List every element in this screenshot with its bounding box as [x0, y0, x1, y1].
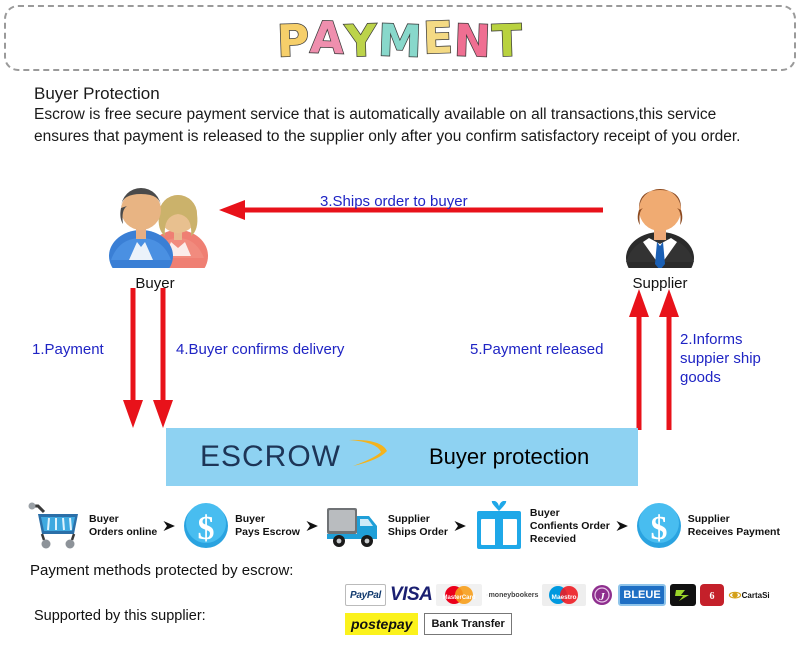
payment-logo-row-primary: PayPal VISA MasterCard moneybookers Maes…	[345, 584, 770, 606]
cartasi-label: CartaSi	[742, 591, 770, 600]
arrow-buyer-confirms-down	[152, 288, 174, 430]
process-step-line3: Recevied	[530, 533, 610, 546]
process-step-text: Supplier Receives Payment	[688, 513, 780, 539]
discover-logo-icon	[670, 584, 696, 606]
moneybookers-label: moneybookers	[489, 591, 539, 600]
maestro-logo-icon: Maestro	[542, 584, 586, 606]
paypal-logo-icon: PayPal	[345, 584, 386, 606]
process-step-line2: Orders online	[89, 526, 157, 539]
payment-title-letter-4: M	[377, 19, 423, 65]
payment-header-banner: PAYMENT	[4, 5, 796, 71]
jcb-logo-icon: J	[590, 584, 614, 606]
svg-text:6: 6	[709, 591, 714, 602]
process-step-text: Buyer Pays Escrow	[235, 513, 300, 539]
delivery-truck-icon	[325, 502, 383, 550]
process-step: Buyer Confients Order Recevied	[473, 501, 610, 551]
process-step: Buyer Orders online	[28, 502, 157, 550]
process-step: $ Supplier Receives Payment	[635, 502, 780, 550]
page-title: PAYMENT	[277, 12, 523, 64]
svg-text:MasterCard: MasterCard	[443, 595, 476, 601]
visa-logo-icon: VISA	[390, 584, 432, 606]
supplier-avatar-icon	[605, 168, 715, 268]
process-step-line1: Buyer	[235, 513, 300, 526]
actor-buyer: Buyer	[95, 168, 215, 292]
chevron-right-icon	[306, 515, 319, 537]
payment-methods-escrow-label: Payment methods protected by escrow:	[30, 562, 293, 579]
payment-methods-supplier-label: Supported by this supplier:	[34, 608, 206, 624]
flow-label-ships-order: 3.Ships order to buyer	[320, 192, 468, 211]
escrow-wordmark: ESCROW	[200, 440, 341, 474]
flow-label-payment: 1.Payment	[32, 340, 104, 359]
dollar-circle-icon: $	[182, 502, 230, 550]
payment-title-letter-3: Y	[345, 19, 379, 64]
bleue-logo-icon: BLEUE	[618, 584, 665, 606]
mastercard-logo-icon: MasterCard	[436, 584, 482, 606]
process-step-line1: Supplier	[388, 513, 448, 526]
process-step: Supplier Ships Order	[325, 502, 448, 550]
process-step-line2: Ships Order	[388, 526, 448, 539]
svg-text:J: J	[599, 591, 606, 603]
cartasi-logo-icon: CartaSi	[728, 584, 770, 606]
bank-transfer-logo-icon: Bank Transfer	[424, 613, 511, 635]
chevron-right-icon	[454, 515, 467, 537]
dollar-circle-icon: $	[635, 502, 683, 550]
payment-logo-row-secondary: postepay Bank Transfer	[345, 613, 512, 635]
escrow-tagline: Buyer protection	[429, 444, 589, 470]
chevron-right-icon	[616, 515, 629, 537]
arrow-payment-released-up	[628, 288, 650, 430]
flow-label-payment-released: 5.Payment released	[470, 340, 603, 359]
actor-supplier: Supplier	[605, 168, 715, 292]
svg-text:$: $	[198, 510, 215, 547]
process-step-line1: Buyer	[89, 513, 157, 526]
buyer-protection-heading: Buyer Protection	[34, 84, 160, 104]
payment-title-letter-5: E	[422, 16, 455, 61]
process-step-line2: Receives Payment	[688, 526, 780, 539]
flow-label-informs-supplier: 2.Informs suppier ship goods	[680, 330, 775, 387]
process-steps-row: Buyer Orders online $ Buyer Pays Escrow	[28, 498, 780, 554]
payment-title-letter-2: A	[310, 16, 347, 61]
escrow-banner: ESCROW Buyer protection	[166, 428, 638, 486]
arrow-payment-down	[122, 288, 144, 430]
process-step-line1: Supplier	[688, 513, 780, 526]
payment-title-letter-7: T	[491, 19, 524, 64]
postepay-logo-icon: postepay	[345, 613, 418, 635]
shopping-cart-icon	[28, 502, 84, 550]
process-step-text: Supplier Ships Order	[388, 513, 448, 539]
process-step-text: Buyer Orders online	[89, 513, 157, 539]
escrow-swoosh-icon	[347, 436, 389, 470]
chevron-right-icon	[163, 515, 176, 537]
gift-box-icon	[473, 501, 525, 551]
escrow-description: Escrow is free secure payment service th…	[34, 104, 774, 148]
process-step-line1: Buyer	[530, 507, 610, 520]
process-step-line2: Pays Escrow	[235, 526, 300, 539]
svg-text:$: $	[650, 510, 667, 547]
svg-text:Maestro: Maestro	[552, 594, 577, 601]
diners-logo-icon: 6	[700, 584, 724, 606]
payment-title-letter-6: N	[453, 19, 492, 64]
flow-label-buyer-confirms: 4.Buyer confirms delivery	[176, 340, 344, 359]
payment-title-letter-1: P	[276, 19, 311, 64]
process-step: $ Buyer Pays Escrow	[182, 502, 300, 550]
process-step-text: Buyer Confients Order Recevied	[530, 507, 610, 546]
process-step-line2: Confients Order	[530, 520, 610, 533]
buyer-avatar-icon	[95, 168, 215, 268]
moneybookers-logo-icon: moneybookers	[486, 584, 538, 606]
arrow-informs-supplier-up	[658, 288, 680, 430]
